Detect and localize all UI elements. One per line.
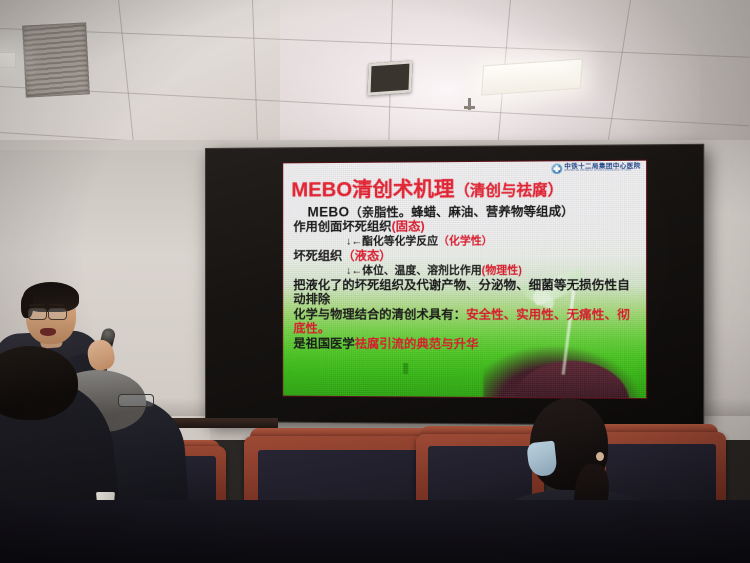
slide-title-main: MEBO清创术机理 <box>291 178 454 201</box>
slide-content: 中铁十二局集团中心医院 ZHONGTIE SHI'ERJU JITUAN ZHO… <box>282 160 647 399</box>
speaker-eyeglasses <box>28 308 47 320</box>
hospital-logo: 中铁十二局集团中心医院 ZHONGTIE SHI'ERJU JITUAN ZHO… <box>551 163 640 174</box>
hospital-name-en: ZHONGTIE SHI'ERJU JITUAN ZHONGXIN YIYUAN <box>564 170 640 173</box>
speaker-eyeglasses <box>48 308 67 320</box>
slide-title-paren: （清创与祛腐） <box>454 182 563 200</box>
slide-text-segment: 是祖国医学 <box>293 336 354 350</box>
lecture-room-photo: 中铁十二局集团中心医院 ZHONGTIE SHI'ERJU JITUAN ZHO… <box>0 0 750 563</box>
slide-text-segment: ↓←酯化等化学反应 <box>346 235 438 247</box>
slide-line: 是祖国医学祛腐引流的典范与升华 <box>293 336 639 352</box>
slide-line: ↓←体位、温度、溶剂比作用(物理性) <box>293 263 639 278</box>
slide-text-segment: 祛腐引流的典范与升华 <box>355 336 479 351</box>
air-vent-icon <box>22 22 90 97</box>
slide-title: MEBO清创术机理（清创与祛腐） <box>291 178 637 200</box>
slide-text-segment: （液态） <box>342 249 391 263</box>
green-fleck <box>403 363 408 374</box>
slide-text-segment: 作用创面坏死组织 <box>293 220 391 234</box>
slide-text-segment: 化学与物理结合的清创术具有： <box>293 307 466 321</box>
slide-text-segment: 把液化了的坏死组织及代谢产物、分泌物、细菌等无损伤性自动排除 <box>293 278 629 307</box>
foreground-shadow <box>0 500 750 563</box>
slide-text-segment: 坏死组织 <box>293 249 342 263</box>
slide-text-segment: (物理性) <box>482 264 522 276</box>
slide-line: MEBO（亲脂性。蜂蜡、麻油、营养物等组成） <box>293 204 639 220</box>
slide-text-segment: （化学性） <box>438 235 493 247</box>
slide-body-text: MEBO（亲脂性。蜂蜡、麻油、营养物等组成）作用创面坏死组织(固态)↓←酯化等化… <box>293 204 639 352</box>
eyeglasses-icon <box>118 394 154 407</box>
slide-line: 化学与物理结合的清创术具有：安全性、实用性、无痛性、彻底性。 <box>293 307 639 337</box>
slide-line: 坏死组织（液态） <box>293 248 639 263</box>
speaker-mouth <box>40 328 56 336</box>
ceiling-light-panel-icon <box>0 52 16 68</box>
slide-text-segment: MEBO <box>307 204 349 219</box>
fire-sprinkler-icon <box>468 98 471 110</box>
slide-text-segment: （亲脂性。蜂蜡、麻油、营养物等组成） <box>349 204 573 219</box>
slide-line: 把液化了的坏死组织及代谢产物、分泌物、细菌等无损伤性自动排除 <box>293 278 639 308</box>
dark-air-vent-icon <box>367 60 412 95</box>
hospital-cross-icon <box>551 163 562 174</box>
slide-line: ↓←酯化等化学反应（化学性） <box>293 233 639 249</box>
slide-text-segment: (固态) <box>392 220 425 234</box>
slide-line: 作用创面坏死组织(固态) <box>293 219 639 235</box>
slide-text-segment: ↓←体位、温度、溶剂比作用 <box>346 264 482 276</box>
attendee-ear <box>596 452 604 461</box>
